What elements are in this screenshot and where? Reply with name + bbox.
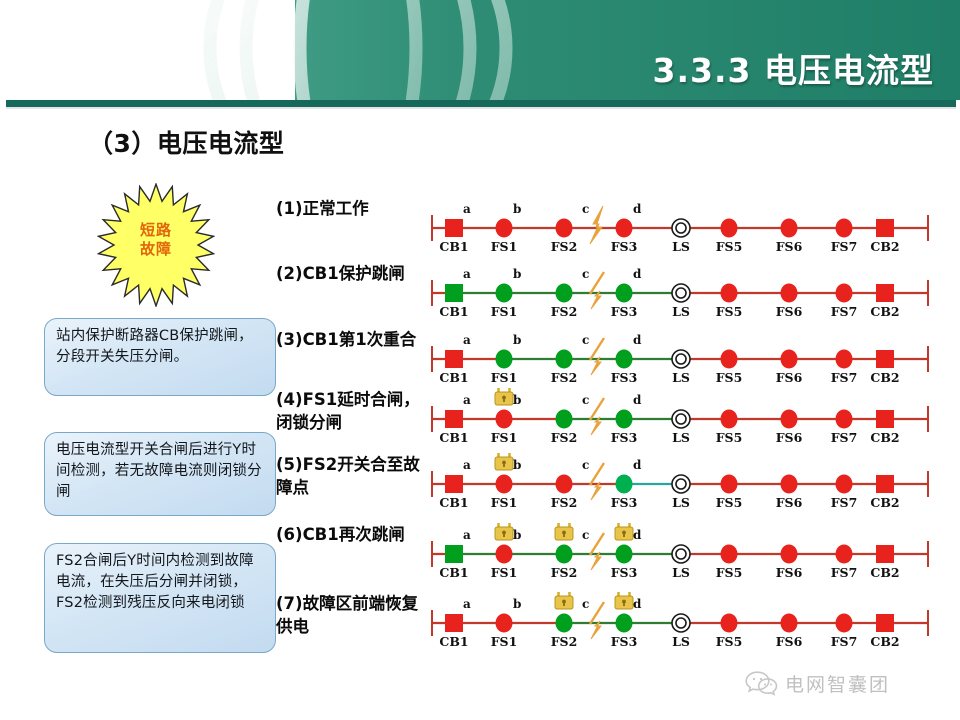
node-label-fs7: FS7 (822, 430, 866, 445)
node-label-fs1: FS1 (482, 634, 526, 649)
node-label-fs6: FS6 (767, 565, 811, 580)
node-label-fs6: FS6 (767, 634, 811, 649)
node-label-fs2: FS2 (542, 370, 586, 385)
node-label-cb2: CB2 (863, 239, 907, 254)
tap-label-d: d (633, 267, 641, 281)
tap-label-c: c (582, 202, 589, 216)
node-label-cb2: CB2 (863, 430, 907, 445)
node-label-fs6: FS6 (767, 370, 811, 385)
node-label-cb2: CB2 (863, 565, 907, 580)
tap-label-a: a (463, 597, 471, 611)
page-title: （3）电压电流型 (88, 124, 284, 160)
node-label-ls: LS (659, 430, 703, 445)
node-label-fs5: FS5 (707, 565, 751, 580)
tap-label-b: b (513, 528, 521, 542)
note-fs2-lockout: FS2合闸后Y时间内检测到故障电流，在失压后分闸并闭锁，FS2检测到残压反向来电… (44, 543, 276, 653)
tap-label-d: d (633, 597, 641, 611)
node-label-cb1: CB1 (432, 634, 476, 649)
node-label-ls: LS (659, 370, 703, 385)
burst-text: 短路 故障 (97, 221, 215, 259)
node-label-fs3: FS3 (602, 634, 646, 649)
tap-label-c: c (582, 528, 589, 542)
node-label-fs3: FS3 (602, 239, 646, 254)
note-y-time-detect: 电压电流型开关合闸后进行Y时间检测，若无故障电流则闭锁分闸 (44, 432, 276, 516)
tap-label-b: b (513, 393, 521, 407)
feeder-row-label: (6)CB1再次跳闸 (276, 523, 424, 546)
node-label-ls: LS (659, 634, 703, 649)
burst-line-1: 短路 (97, 221, 215, 240)
header-divider-rule (6, 100, 956, 107)
node-label-fs1: FS1 (482, 430, 526, 445)
feeder-line: CB1FS1FS2FS3LSFS5FS6FS7CB2abcd (428, 197, 960, 255)
tap-label-d: d (633, 528, 641, 542)
feeder-row-label: (2)CB1保护跳闸 (276, 262, 424, 285)
node-label-ls: LS (659, 495, 703, 510)
tap-label-a: a (463, 528, 471, 542)
header-divider-shadow (6, 107, 956, 109)
node-label-fs3: FS3 (602, 304, 646, 319)
feeder-row-label: (3)CB1第1次重合 (276, 328, 424, 351)
node-label-fs3: FS3 (602, 495, 646, 510)
node-label-fs2: FS2 (542, 634, 586, 649)
tap-label-c: c (582, 333, 589, 347)
node-label-fs1: FS1 (482, 565, 526, 580)
globe-grid-icon (193, 0, 523, 100)
node-label-fs2: FS2 (542, 565, 586, 580)
node-label-fs1: FS1 (482, 370, 526, 385)
node-label-fs1: FS1 (482, 304, 526, 319)
feeder-row-label: (1)正常工作 (276, 197, 424, 220)
node-label-fs2: FS2 (542, 304, 586, 319)
wechat-bubbles-icon (744, 670, 778, 696)
node-label-fs3: FS3 (602, 370, 646, 385)
feeder-line: CB1FS1FS2FS3LSFS5FS6FS7CB2abcd (428, 262, 960, 320)
feeder-row-label: (4)FS1延时合闸，闭锁分闸 (276, 388, 424, 434)
node-label-fs7: FS7 (822, 495, 866, 510)
tap-label-d: d (633, 333, 641, 347)
node-label-fs7: FS7 (822, 239, 866, 254)
node-label-cb2: CB2 (863, 634, 907, 649)
header-white-area (0, 0, 193, 100)
node-label-ls: LS (659, 565, 703, 580)
tap-label-c: c (582, 393, 589, 407)
node-label-fs2: FS2 (542, 239, 586, 254)
node-label-fs1: FS1 (482, 495, 526, 510)
tap-label-c: c (582, 458, 589, 472)
node-label-fs5: FS5 (707, 304, 751, 319)
tap-label-a: a (463, 393, 471, 407)
node-label-cb1: CB1 (432, 495, 476, 510)
tap-label-d: d (633, 393, 641, 407)
tap-label-b: b (513, 333, 521, 347)
node-label-cb1: CB1 (432, 239, 476, 254)
tap-label-c: c (582, 267, 589, 281)
tap-label-b: b (513, 597, 521, 611)
node-label-fs7: FS7 (822, 634, 866, 649)
node-label-fs3: FS3 (602, 430, 646, 445)
note-protection-trip: 站内保护断路器CB保护跳闸，分段开关失压分闸。 (44, 318, 276, 396)
tap-label-b: b (513, 202, 521, 216)
page-header: 3.3.3 电压电流型 (0, 0, 960, 100)
node-label-cb2: CB2 (863, 304, 907, 319)
node-label-fs5: FS5 (707, 239, 751, 254)
node-label-fs3: FS3 (602, 565, 646, 580)
tap-label-b: b (513, 267, 521, 281)
feeder-line: CB1FS1FS2FS3LSFS5FS6FS7CB2abcd (428, 592, 960, 650)
node-label-cb1: CB1 (432, 565, 476, 580)
node-label-fs6: FS6 (767, 495, 811, 510)
node-label-fs5: FS5 (707, 495, 751, 510)
node-label-cb1: CB1 (432, 430, 476, 445)
node-label-cb1: CB1 (432, 370, 476, 385)
feeder-line: CB1FS1FS2FS3LSFS5FS6FS7CB2abcd (428, 328, 960, 386)
watermark-text: 电网智囊团 (785, 670, 890, 697)
tap-label-d: d (633, 458, 641, 472)
watermark: 电网智囊团 (744, 666, 950, 700)
node-label-fs7: FS7 (822, 304, 866, 319)
tap-label-a: a (463, 267, 471, 281)
node-label-fs6: FS6 (767, 430, 811, 445)
feeder-row-label: (7)故障区前端恢复供电 (276, 592, 424, 638)
tap-label-a: a (463, 333, 471, 347)
node-label-fs1: FS1 (482, 239, 526, 254)
node-label-fs6: FS6 (767, 304, 811, 319)
node-label-cb2: CB2 (863, 370, 907, 385)
tap-label-a: a (463, 458, 471, 472)
node-label-fs7: FS7 (822, 370, 866, 385)
feeder-line: CB1FS1FS2FS3LSFS5FS6FS7CB2abcd (428, 453, 960, 511)
tap-label-b: b (513, 458, 521, 472)
node-label-fs2: FS2 (542, 430, 586, 445)
node-label-fs5: FS5 (707, 634, 751, 649)
node-label-fs6: FS6 (767, 239, 811, 254)
node-label-cb1: CB1 (432, 304, 476, 319)
tap-label-d: d (633, 202, 641, 216)
feeder-line: CB1FS1FS2FS3LSFS5FS6FS7CB2abcd (428, 388, 960, 446)
node-label-fs2: FS2 (542, 495, 586, 510)
node-label-fs5: FS5 (707, 370, 751, 385)
node-label-ls: LS (659, 239, 703, 254)
tap-label-c: c (582, 597, 589, 611)
feeder-line: CB1FS1FS2FS3LSFS5FS6FS7CB2abcd (428, 523, 960, 581)
short-circuit-fault-badge: 短路 故障 (97, 183, 215, 307)
node-label-fs7: FS7 (822, 565, 866, 580)
burst-line-2: 故障 (97, 240, 215, 259)
node-label-fs5: FS5 (707, 430, 751, 445)
tap-label-a: a (463, 202, 471, 216)
header-title: 3.3.3 电压电流型 (653, 44, 934, 92)
feeder-row-label: (5)FS2开关合至故障点 (276, 453, 424, 499)
node-label-cb2: CB2 (863, 495, 907, 510)
node-label-ls: LS (659, 304, 703, 319)
